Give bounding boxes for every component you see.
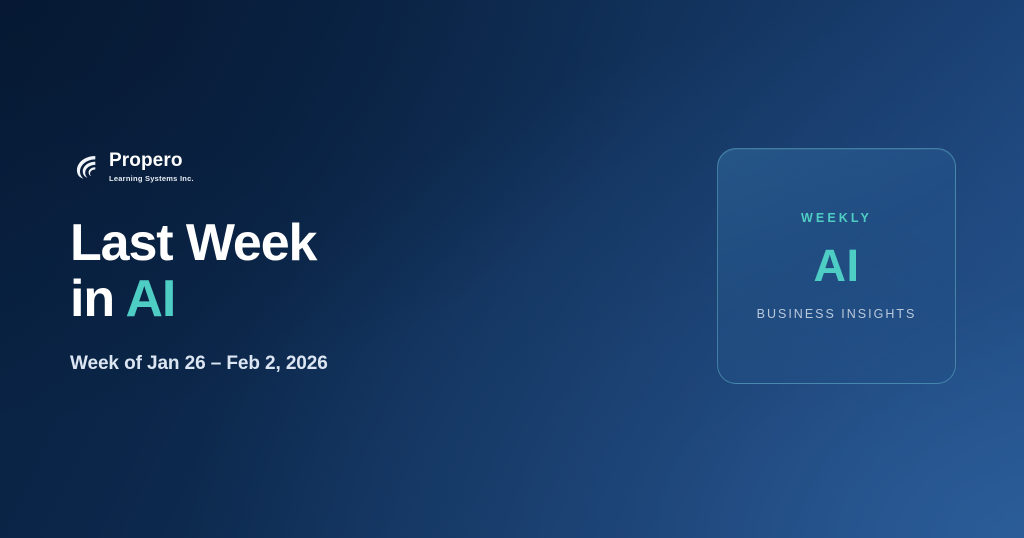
brand-text-block: Propero Learning Systems Inc. xyxy=(109,150,194,182)
headline-line-2: in AI xyxy=(70,272,540,327)
brand-tagline: Learning Systems Inc. xyxy=(109,175,194,183)
title-slide: Propero Learning Systems Inc. Last Week … xyxy=(0,0,1024,538)
headline-accent-ai: AI xyxy=(125,270,175,328)
headline-line-1: Last Week xyxy=(70,216,540,271)
headline-line-2-prefix: in xyxy=(70,270,125,328)
brand-logo-lockup: Propero Learning Systems Inc. xyxy=(70,150,540,182)
badge-kicker: WEEKLY xyxy=(801,212,872,225)
badge-subtitle: BUSINESS INSIGHTS xyxy=(757,308,917,321)
brand-name: Propero xyxy=(109,151,194,171)
slide-left-column: Propero Learning Systems Inc. Last Week … xyxy=(70,150,540,375)
propero-swoosh-icon xyxy=(70,152,100,182)
badge-title: AI xyxy=(814,243,860,288)
weekly-ai-badge-card: WEEKLY AI BUSINESS INSIGHTS xyxy=(717,148,956,384)
slide-headline: Last Week in AI xyxy=(70,216,540,326)
slide-dateline: Week of Jan 26 – Feb 2, 2026 xyxy=(70,353,540,375)
